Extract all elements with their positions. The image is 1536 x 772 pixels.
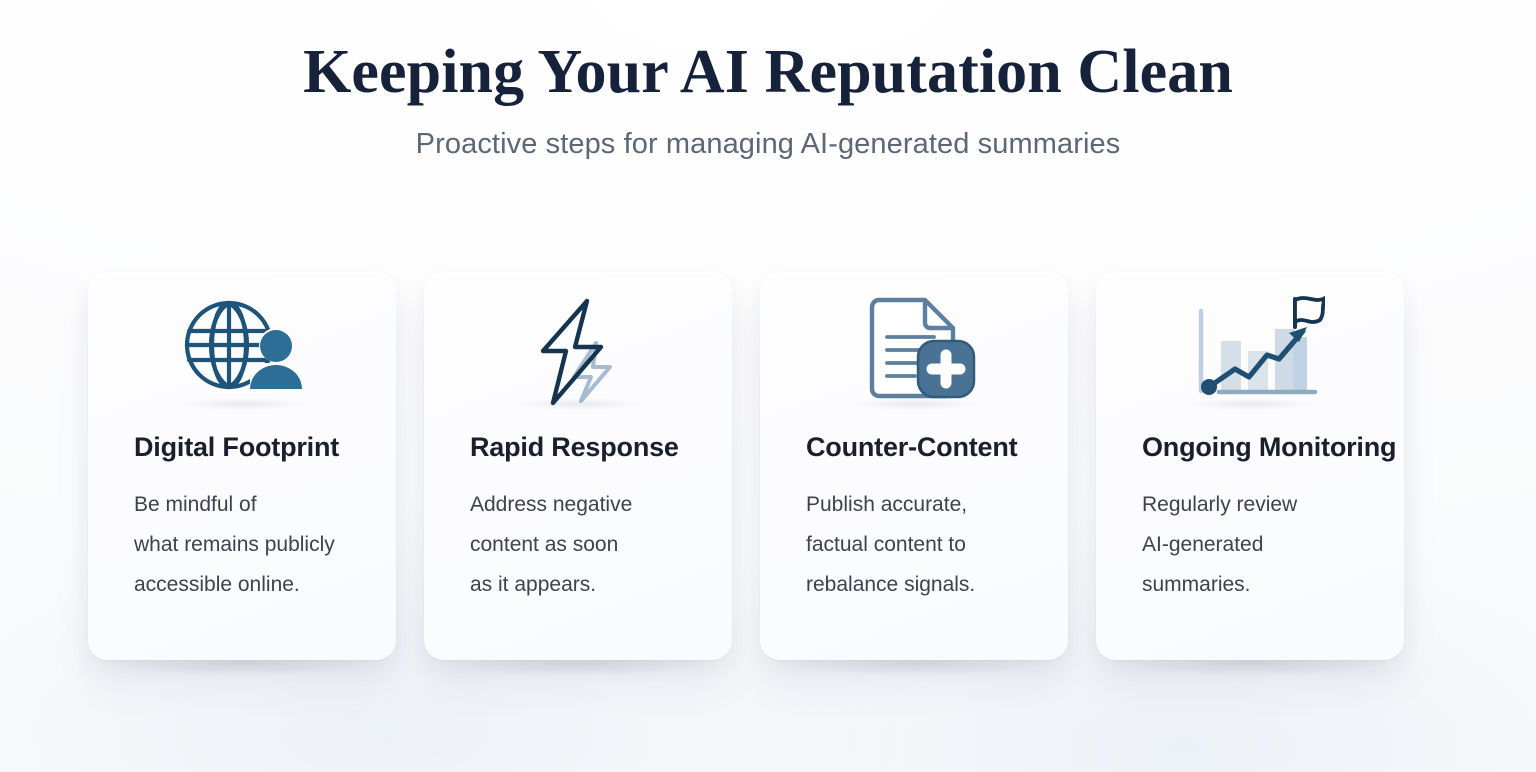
card-row: Digital Footprint Be mindful of what rem… — [88, 272, 1408, 662]
card-icon-wrap — [88, 272, 396, 432]
card-body: Be mindful of what remains publicly acce… — [88, 485, 396, 605]
card-icon-wrap — [1096, 272, 1404, 432]
page-title: Keeping Your AI Reputation Clean — [0, 38, 1536, 106]
card-title: Digital Footprint — [88, 432, 396, 463]
card-title: Ongoing Monitoring — [1096, 432, 1404, 463]
card-ongoing-monitoring[interactable]: Ongoing Monitoring Regularly review AI-g… — [1096, 272, 1404, 660]
card-title: Rapid Response — [424, 432, 732, 463]
card-body: Regularly review AI-generated summaries. — [1096, 485, 1404, 605]
header: Keeping Your AI Reputation Clean Proacti… — [0, 38, 1536, 161]
card-body: Address negative content as soon as it a… — [424, 485, 732, 605]
infographic-canvas: Keeping Your AI Reputation Clean Proacti… — [0, 0, 1536, 772]
growth-chart-flag-icon — [1175, 293, 1325, 411]
card-digital-footprint[interactable]: Digital Footprint Be mindful of what rem… — [88, 272, 396, 660]
card-icon-wrap — [424, 272, 732, 432]
globe-user-icon — [167, 293, 317, 411]
document-plus-icon — [839, 293, 989, 411]
card-title: Counter-Content — [760, 432, 1068, 463]
card-body: Publish accurate, factual content to reb… — [760, 485, 1068, 605]
card-counter-content[interactable]: Counter-Content Publish accurate, factua… — [760, 272, 1068, 660]
lightning-bolt-icon — [503, 293, 653, 411]
card-icon-wrap — [760, 272, 1068, 432]
page-subtitle: Proactive steps for managing AI-generate… — [0, 128, 1536, 161]
card-rapid-response[interactable]: Rapid Response Address negative content … — [424, 272, 732, 660]
